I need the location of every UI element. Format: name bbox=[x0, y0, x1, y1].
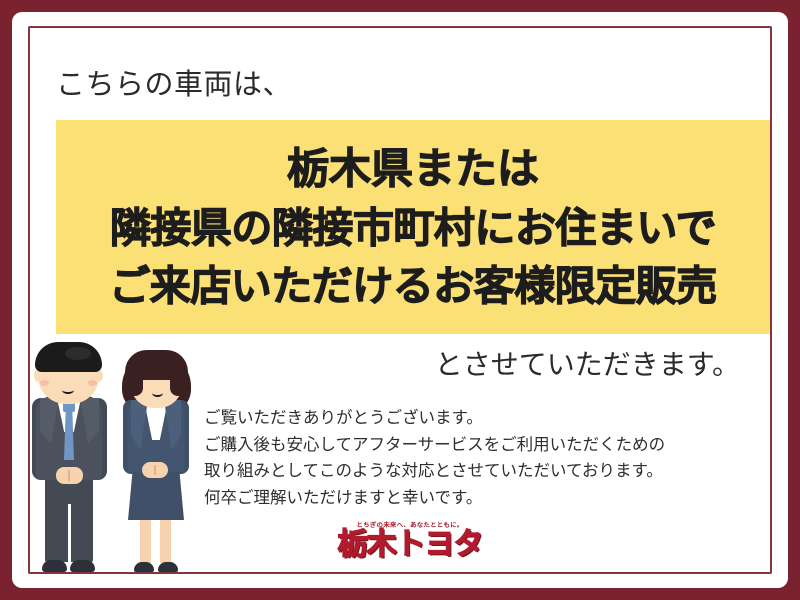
highlight-band: 栃木県または 隣接県の隣接市町村にお住まいで ご来店いただけるお客様限定販売 bbox=[56, 120, 770, 334]
poster-root: こちらの車両は、 栃木県または 隣接県の隣接市町村にお住まいで ご来店いただける… bbox=[0, 0, 800, 600]
woman-shoe-right bbox=[158, 562, 178, 572]
closing-text: とさせていただきます。 bbox=[435, 343, 740, 383]
man-shoe-right bbox=[70, 560, 95, 572]
woman-hair-fringe-right bbox=[170, 366, 188, 396]
woman-mouth bbox=[152, 389, 163, 397]
woman-in-suit-figure bbox=[114, 358, 198, 572]
woman-clasped-hands bbox=[142, 462, 168, 478]
body-copy: ご覧いただきありがとうございます。 ご購入後も安心してアフターサービスをご利用い… bbox=[204, 405, 665, 512]
man-clasped-hands bbox=[56, 467, 83, 484]
woman-hair-fringe-left bbox=[125, 366, 143, 396]
man-cheek-right bbox=[88, 380, 97, 386]
man-cheek-left bbox=[40, 380, 49, 386]
body-copy-line-3: 取り組みとしてこのような対応とさせていただいております。 bbox=[204, 458, 665, 485]
man-mouth bbox=[62, 386, 74, 394]
man-leg-split bbox=[68, 504, 71, 562]
man-hair bbox=[35, 342, 102, 372]
highlight-line-1: 栃木県または bbox=[287, 139, 539, 199]
poster-card: こちらの車両は、 栃木県または 隣接県の隣接市町村にお住まいで ご来店いただける… bbox=[12, 12, 788, 588]
woman-leg-right bbox=[160, 519, 171, 563]
body-copy-line-2: ご購入後も安心してアフターサービスをご利用いただくための bbox=[204, 432, 665, 459]
lead-text: こちらの車両は、 bbox=[56, 70, 292, 102]
body-copy-line-1: ご覧いただきありがとうございます。 bbox=[204, 405, 665, 432]
bowing-staff-illustration bbox=[26, 342, 198, 572]
poster-content: こちらの車両は、 栃木県または 隣接県の隣接市町村にお住まいで ご来店いただける… bbox=[12, 12, 788, 588]
highlight-line-3: ご来店いただけるお客様限定販売 bbox=[109, 257, 717, 315]
woman-leg-left bbox=[140, 519, 151, 563]
woman-shoe-left bbox=[134, 562, 154, 572]
dealer-logo: とちぎの未来へ、あなたとともに。 栃木トヨタ bbox=[322, 519, 498, 560]
body-copy-line-4: 何卒ご理解いただけますと幸いです。 bbox=[204, 485, 665, 512]
highlight-line-2: 隣接県の隣接市町村にお住まいで bbox=[110, 199, 716, 257]
logo-tagline: とちぎの未来へ、あなたとともに。 bbox=[322, 519, 498, 529]
logo-wordmark: 栃木トヨタ bbox=[322, 530, 498, 560]
man-shoe-left bbox=[42, 560, 67, 572]
man-in-suit-figure bbox=[26, 350, 112, 572]
